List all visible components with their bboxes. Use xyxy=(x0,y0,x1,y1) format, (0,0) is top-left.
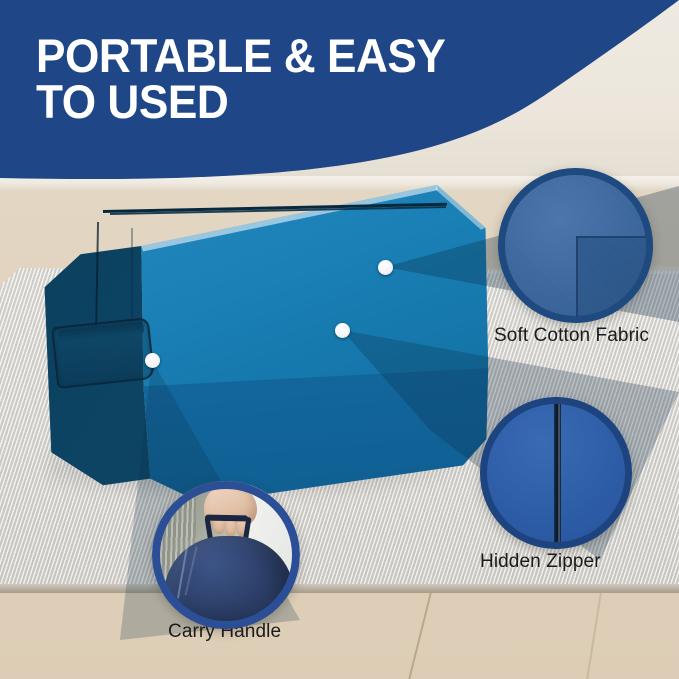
callout-image-carry-handle xyxy=(152,481,300,629)
carry-handle-circle-rim xyxy=(152,481,300,629)
callout-image-hidden-zipper xyxy=(480,397,632,549)
fabric-circle-rim xyxy=(498,168,653,323)
yoga-mat-bottom-edge xyxy=(0,584,679,593)
hotspot-dot-hidden-zipper[interactable] xyxy=(335,323,350,338)
page-title: PORTABLE & EASY TO USED xyxy=(36,33,478,124)
callout-label-soft-cotton-fabric: Soft Cotton Fabric xyxy=(494,325,649,347)
callout-image-soft-cotton-fabric xyxy=(498,168,653,323)
page-title-line-2: TO USED xyxy=(36,79,478,125)
callout-label-hidden-zipper: Hidden Zipper xyxy=(480,551,601,573)
hotspot-dot-soft-cotton-fabric[interactable] xyxy=(378,260,393,275)
zipper-circle-rim xyxy=(480,397,632,549)
product-infographic: PORTABLE & EASY TO USED Soft Cotton Fabr… xyxy=(0,0,679,679)
hotspot-dot-carry-handle[interactable] xyxy=(145,353,160,368)
